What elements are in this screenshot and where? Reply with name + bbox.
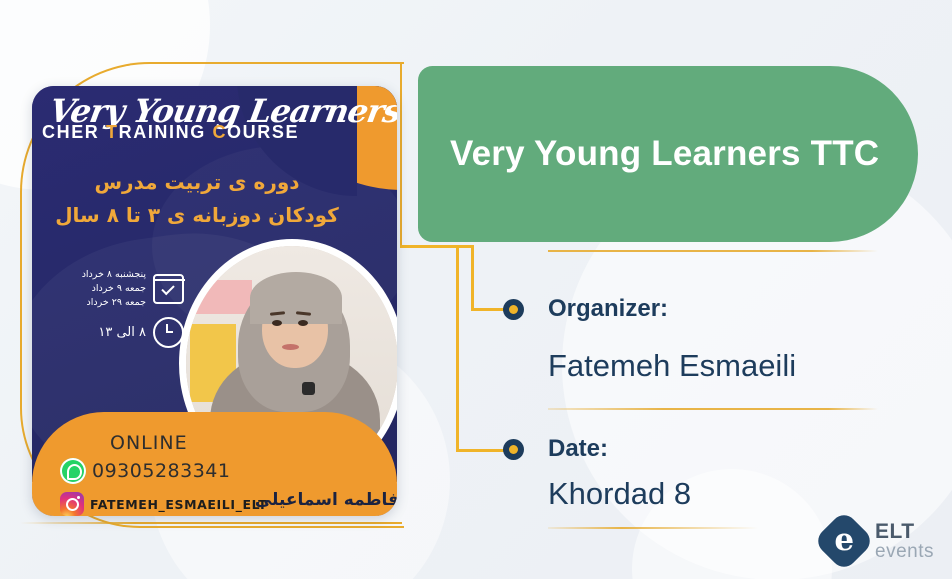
portrait-eye-right [298, 320, 308, 326]
elt-logo-line1: ELT [875, 521, 934, 542]
divider-bottom [548, 527, 758, 529]
poster-persian-title: دوره ی تربیت مدرس کودکان دوزبانه ی ۳ تا … [32, 166, 362, 232]
elt-logo-mark-icon: e [813, 510, 875, 572]
gold-frame-bottom-line [20, 522, 402, 524]
elt-logo-line2: events [875, 542, 934, 561]
date-label: Date: [548, 435, 608, 463]
bullet-marker-organizer [503, 299, 524, 320]
connector-line-horizontal-top [400, 245, 474, 248]
course-text-part-5: OURSE [227, 122, 299, 142]
elt-events-logo[interactable]: e ELT events [822, 519, 934, 563]
instagram-icon[interactable] [60, 492, 84, 516]
whatsapp-icon[interactable] [60, 458, 86, 484]
title-banner: Very Young Learners TTC [418, 66, 918, 242]
gold-frame-top-line [20, 62, 402, 64]
poster-schedule-block: پنجشنبه ۸ خرداد جمعه ۹ خرداد جمعه ۲۹ خرد… [44, 268, 184, 356]
course-text-part-3: RAINING [119, 122, 213, 142]
poster-date-1: پنجشنبه ۸ خرداد [82, 268, 146, 282]
course-text-part-2: T [106, 122, 119, 142]
poster-time-value: ۸ الی ۱۳ [98, 325, 146, 340]
bullet-marker-date [503, 439, 524, 460]
poster-instagram-row[interactable]: FATEMEH_ESMAEILI_ELT [60, 492, 267, 516]
portrait-eye-left [272, 320, 282, 326]
elt-logo-glyph: e [835, 525, 855, 556]
poster-date-2: جمعه ۹ خرداد [82, 282, 146, 296]
poster-persian-title-line2: کودکان دوزبانه ی ۳ تا ۸ سال [32, 199, 362, 232]
page-title: Very Young Learners TTC [450, 134, 879, 174]
poster-course-line: CHER TRAINING COURSE [42, 122, 397, 143]
poster-phone-number: 09305283341 [92, 460, 230, 482]
connector-line-vertical-main [456, 245, 459, 452]
poster-date-3: جمعه ۲۹ خرداد [82, 296, 146, 310]
portrait-decor-pink [194, 280, 252, 314]
slide-canvas: Very Young Learners TTC Organizer: Fatem… [0, 0, 952, 579]
poster-dates-row: پنجشنبه ۸ خرداد جمعه ۹ خرداد جمعه ۲۹ خرد… [44, 268, 184, 309]
organizer-label: Organizer: [548, 295, 668, 323]
course-text-part-4: C [212, 122, 227, 142]
connector-line-to-date [456, 449, 507, 452]
poster-phone-row[interactable]: 09305283341 [60, 458, 230, 484]
divider-middle [548, 408, 878, 410]
connector-line-vertical-branch [471, 245, 474, 310]
poster-persian-name: فاطمه اسماعیلی [255, 490, 397, 510]
event-poster-card[interactable]: Very Young Learners CHER TRAINING COURSE… [32, 86, 397, 516]
connector-line-to-organizer [471, 308, 507, 311]
portrait-hijab [250, 272, 342, 324]
poster-instagram-handle: FATEMEH_ESMAEILI_ELT [90, 497, 267, 512]
poster-dates-list: پنجشنبه ۸ خرداد جمعه ۹ خرداد جمعه ۲۹ خرد… [82, 268, 146, 309]
calendar-check-icon [153, 274, 184, 304]
course-text-part-1: CHER [42, 122, 106, 142]
date-value: Khordad 8 [548, 476, 691, 512]
elt-logo-wordmark: ELT events [875, 521, 934, 562]
portrait-microphone [302, 382, 315, 395]
divider-top [548, 250, 878, 252]
poster-time-row: ۸ الی ۱۳ [44, 317, 184, 348]
poster-persian-title-line1: دوره ی تربیت مدرس [32, 166, 362, 199]
organizer-value: Fatemeh Esmaeili [548, 348, 796, 384]
poster-online-label: ONLINE [110, 432, 188, 454]
portrait-lips [282, 344, 299, 350]
gold-frame-right-line [400, 62, 402, 247]
